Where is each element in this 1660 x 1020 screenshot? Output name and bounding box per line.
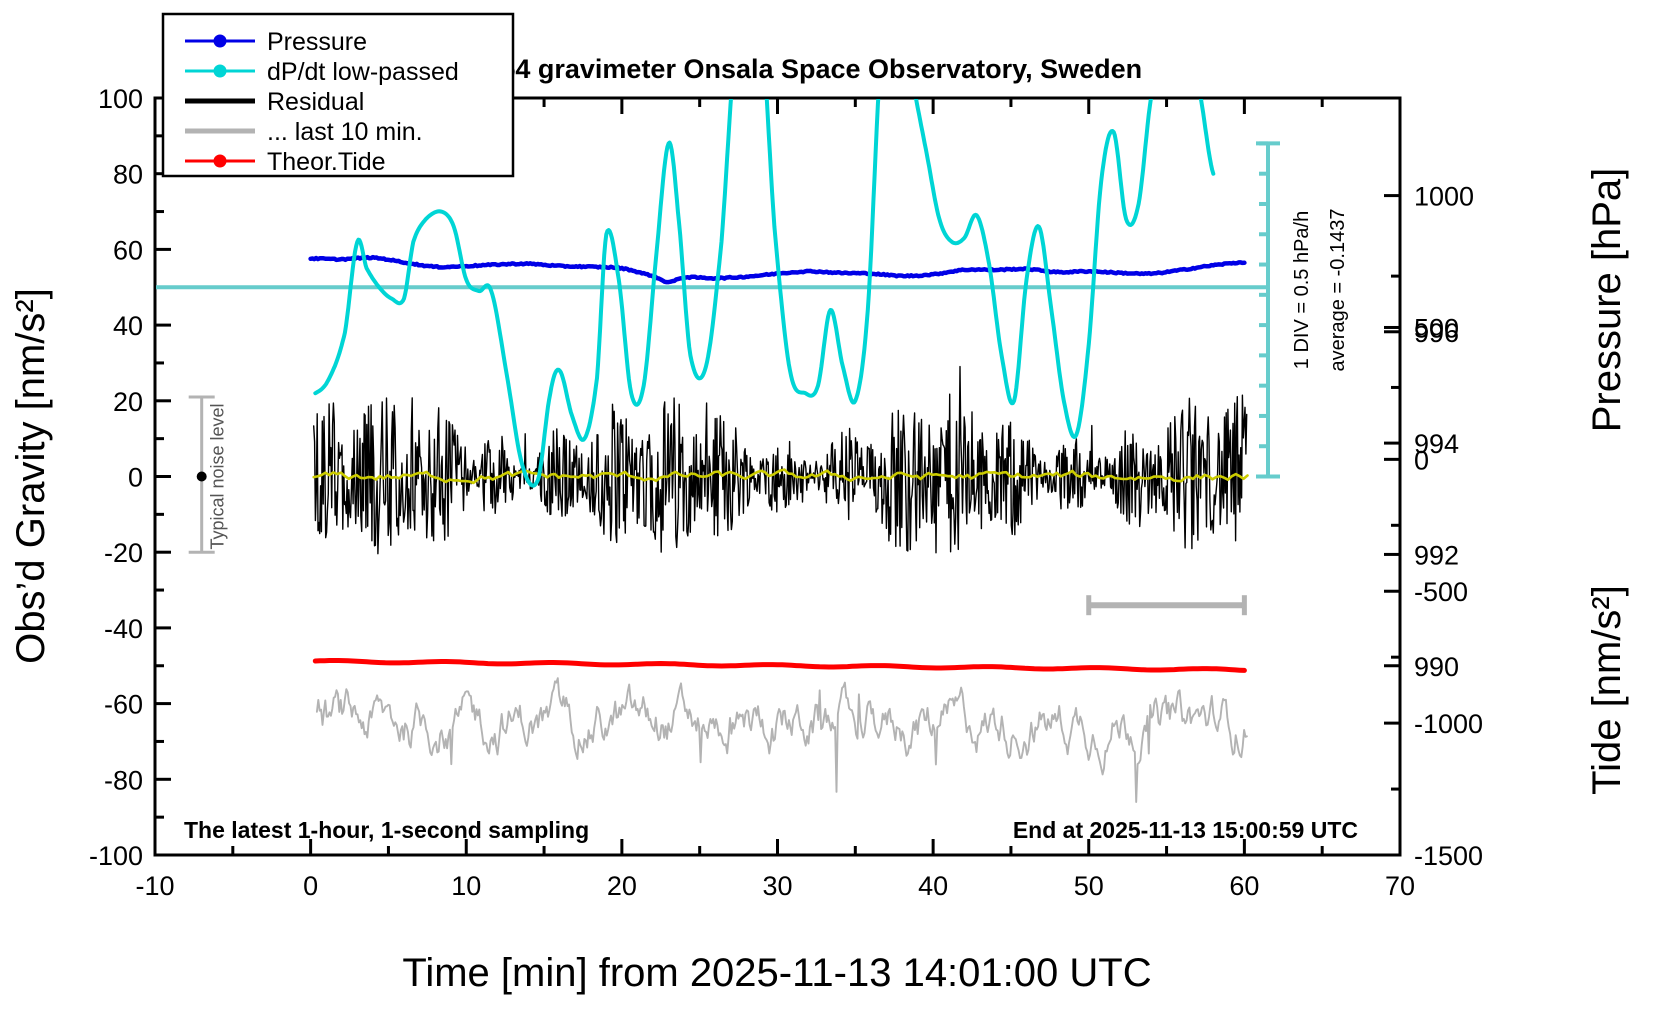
y-axis-title-tide: Tide [nm/s²] [1585, 585, 1629, 795]
x-tick-label: -10 [135, 871, 174, 901]
y-tick-label: 20 [113, 387, 143, 417]
legend-marker-dot [214, 155, 227, 168]
pressure-tick-label: 992 [1414, 540, 1459, 570]
legend-label: Residual [267, 88, 364, 116]
y-tick-label: 60 [113, 235, 143, 265]
legend-marker-dot [214, 35, 227, 48]
gravimeter-chart: -10010203040506070 -100-80-60-40-2002040… [0, 0, 1660, 1020]
legend-marker-dot [214, 65, 227, 78]
x-tick-label: 50 [1074, 871, 1104, 901]
legend-label: ... last 10 min. [267, 118, 423, 146]
tide-tick-label: -1500 [1414, 841, 1483, 871]
y-tick-label: -20 [104, 538, 143, 568]
y-tick-label: -40 [104, 614, 143, 644]
chart-title: SCG_054 gravimeter Onsala Space Observat… [412, 54, 1142, 84]
tide-tick-label: -500 [1414, 577, 1468, 607]
y-tick-label: 100 [98, 84, 143, 114]
bottom-left-note: The latest 1-hour, 1-second sampling [184, 817, 589, 843]
legend-label: Pressure [267, 28, 367, 56]
x-tick-label: 20 [607, 871, 637, 901]
y-tick-label: 0 [128, 463, 143, 493]
x-tick-label: 10 [451, 871, 481, 901]
x-axis-title: Time [min] from 2025-11-13 14:01:00 UTC [402, 951, 1151, 995]
noise-bar-label: Typical noise level [208, 403, 228, 549]
y-tick-label: -80 [104, 765, 143, 795]
y-tick-label: 80 [113, 160, 143, 190]
legend[interactable]: PressuredP/dt low-passedResidual... last… [163, 14, 513, 176]
dpdt-scale-note: 1 DIV = 0.5 hPa/h [1291, 211, 1313, 369]
dpdt-average-note: average = -0.1437 [1327, 209, 1349, 372]
tide-tick-label: -1000 [1414, 709, 1483, 739]
y-tick-label: -100 [89, 841, 143, 871]
tide-tick-label: 0 [1414, 445, 1429, 475]
tide-tick-label: 1000 [1414, 182, 1474, 212]
y-axis-title-pressure: Pressure [hPa] [1585, 168, 1629, 433]
pressure-tick-label: 990 [1414, 652, 1459, 682]
chart-page: -10010203040506070 -100-80-60-40-2002040… [0, 0, 1660, 1020]
bottom-right-note: End at 2025-11-13 15:00:59 UTC [1013, 817, 1358, 843]
y-tick-label: 40 [113, 311, 143, 341]
x-tick-label: 60 [1229, 871, 1259, 901]
legend-label: Theor.Tide [267, 148, 386, 176]
y-tick-label: -60 [104, 690, 143, 720]
legend-label: dP/dt low-passed [267, 58, 459, 86]
x-tick-label: 70 [1385, 871, 1415, 901]
x-tick-label: 0 [303, 871, 318, 901]
x-tick-label: 40 [918, 871, 948, 901]
tide-tick-label: 500 [1414, 313, 1459, 343]
x-tick-label: 30 [762, 871, 792, 901]
y-axis-title-gravity: Obs’d Gravity [nm/s²] [9, 288, 53, 664]
noise-center-dot [197, 472, 207, 482]
